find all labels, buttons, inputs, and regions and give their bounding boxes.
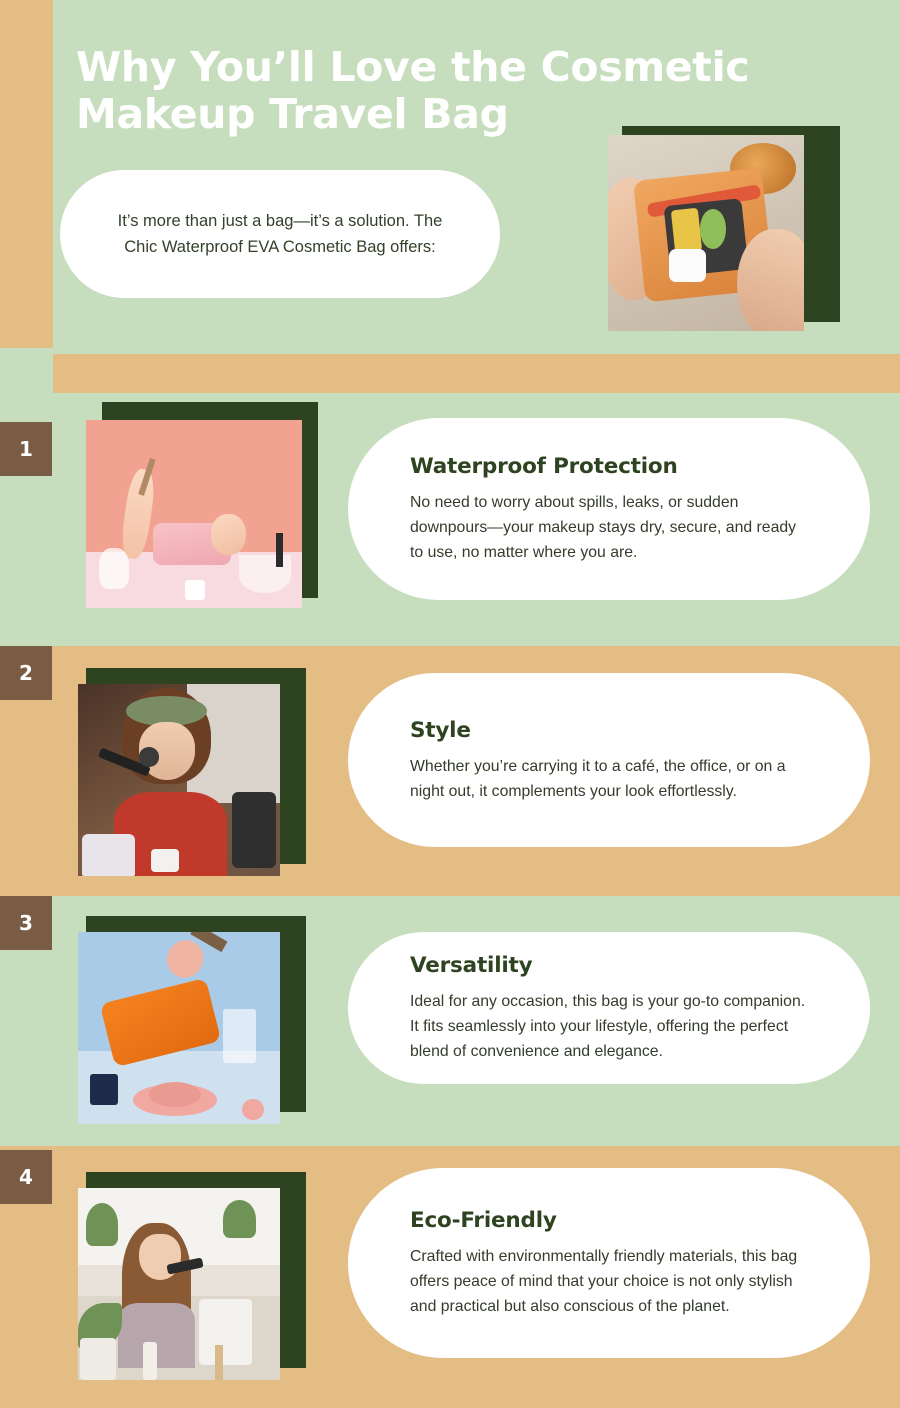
infographic-page: Why You’ll Love the Cosmetic Makeup Trav… — [0, 0, 900, 1408]
hero-image-block — [608, 126, 840, 331]
header-left-rail — [0, 0, 53, 348]
intro-text: It’s more than just a bag—it’s a solutio… — [102, 208, 458, 260]
section-3-image-block — [78, 916, 306, 1124]
hero-image — [608, 135, 804, 331]
section-4-image-block — [78, 1172, 306, 1380]
section-4-title: Eco-Friendly — [410, 1207, 808, 1235]
section-1-title: Waterproof Protection — [410, 453, 808, 481]
section-4-number-badge: 4 — [0, 1150, 52, 1204]
section-2-image-block — [78, 668, 306, 876]
header-divider-band — [53, 354, 900, 393]
section-3-body: Ideal for any occasion, this bag is your… — [410, 989, 808, 1064]
section-3-image — [78, 932, 280, 1124]
section-3-number: 3 — [19, 911, 33, 935]
section-4-card: Eco-Friendly Crafted with environmentall… — [348, 1168, 870, 1358]
section-4-image — [78, 1188, 280, 1380]
section-3-number-badge: 3 — [0, 896, 52, 950]
section-1-card: Waterproof Protection No need to worry a… — [348, 418, 870, 600]
section-2-body: Whether you’re carrying it to a café, th… — [410, 754, 808, 804]
section-4-body: Crafted with environmentally friendly ma… — [410, 1244, 808, 1319]
section-2-title: Style — [410, 717, 808, 745]
section-2-image — [78, 684, 280, 876]
page-title: Why You’ll Love the Cosmetic Makeup Trav… — [76, 44, 816, 138]
section-2-card: Style Whether you’re carrying it to a ca… — [348, 673, 870, 847]
intro-pill-card: It’s more than just a bag—it’s a solutio… — [60, 170, 500, 298]
section-3-title: Versatility — [410, 952, 808, 980]
section-1-image-block — [86, 402, 318, 608]
section-2-number-badge: 2 — [0, 646, 52, 700]
header-divider-left-block — [0, 348, 53, 393]
section-1-body: No need to worry about spills, leaks, or… — [410, 490, 808, 565]
section-1-image — [86, 420, 302, 608]
section-2-number: 2 — [19, 661, 33, 685]
section-3-card: Versatility Ideal for any occasion, this… — [348, 932, 870, 1084]
section-1-number-badge: 1 — [0, 422, 52, 476]
section-1-number: 1 — [19, 437, 33, 461]
section-4-number: 4 — [19, 1165, 33, 1189]
